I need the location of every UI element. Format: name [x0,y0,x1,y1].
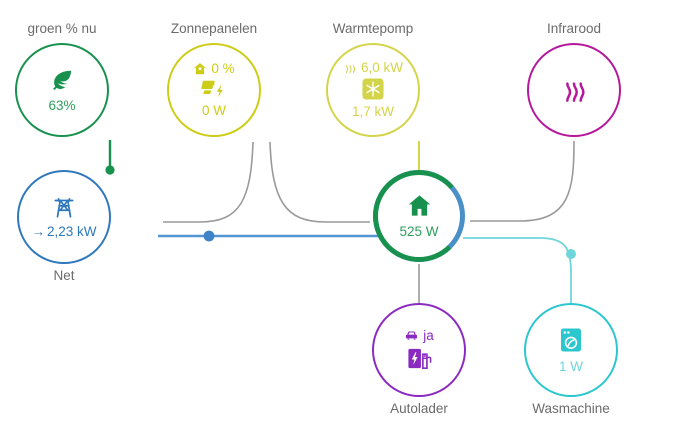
node-label-car-charger: Autolader [390,402,448,417]
car-charger-status-value: ja [423,328,434,344]
grid-value-row: → 2,23 kW [31,224,96,240]
node-washer[interactable]: 1 W Wasmachine [524,303,618,417]
heatpump-heat-row: 6,0 kW [343,60,403,76]
value-washer: 1 W [559,359,583,375]
leaf-icon [49,67,75,93]
solar-panel-icon [200,78,228,100]
node-label-grid: Net [53,269,74,284]
circle-heatpump[interactable]: 6,0 kW 1,7 kW [326,43,420,137]
node-label-washer: Wasmachine [532,402,610,417]
node-infrared[interactable]: Infrarood [527,22,621,137]
house-solar-icon [193,62,207,76]
circle-car-charger[interactable]: ja [372,303,466,397]
circle-grid[interactable]: → 2,23 kW [17,170,111,264]
node-heatpump[interactable]: Warmtepomp 6,0 kW [326,22,420,137]
circle-infrared[interactable] [527,43,621,137]
value-home: 525 W [399,224,438,240]
node-label-solar: Zonnepanelen [171,22,257,37]
flow-line-home-to-washer [463,238,571,305]
node-green-now[interactable]: groen % nu 63% [15,22,109,137]
value-solar: 0 W [202,103,226,119]
value-green-now: 63% [48,98,75,114]
node-label-heatpump: Warmtepomp [333,22,414,37]
ev-charger-icon [406,345,433,372]
home-inner-content: 525 W [378,175,460,257]
car-charger-status-row: ja [404,328,434,344]
value-heatpump: 1,7 kW [352,104,394,120]
node-car-charger[interactable]: ja Autolader [372,303,466,417]
flow-dot-grid-to-home [204,231,215,242]
flow-line-solar-to-home [270,142,370,222]
node-home[interactable]: 525 W [371,168,467,264]
home-icon [406,192,433,219]
flow-line-infrared-to-home [470,141,574,221]
home-ring-wrapper[interactable]: 525 W [371,168,467,264]
solar-self-consumption-row: 0 % [193,61,234,77]
value-grid: 2,23 kW [47,224,97,240]
circle-solar[interactable]: 0 % 0 W [167,43,261,137]
snowflake-icon [362,78,384,100]
node-solar[interactable]: Zonnepanelen 0 % 0 W [167,22,261,137]
grid-direction-arrow: → [31,224,45,240]
heat-waves-icon [343,61,357,75]
circle-washer[interactable]: 1 W [524,303,618,397]
circle-green-now[interactable]: 63% [15,43,109,137]
node-grid[interactable]: → 2,23 kW Net [17,170,111,284]
solar-self-consumption-value: 0 % [211,61,234,77]
node-label-green-now: groen % nu [27,22,96,37]
node-label-infrared: Infrarood [547,22,601,37]
energy-flow-dashboard: groen % nu 63% Zonnepanelen 0 % [0,0,690,424]
car-icon [404,328,419,343]
flow-dot-home-to-washer [566,249,576,259]
washing-machine-icon [557,326,585,354]
flow-line-solar-to-grid [163,142,253,222]
transmission-tower-icon [51,194,77,220]
heat-waves-icon [558,74,590,106]
heatpump-heat-value: 6,0 kW [361,60,403,76]
